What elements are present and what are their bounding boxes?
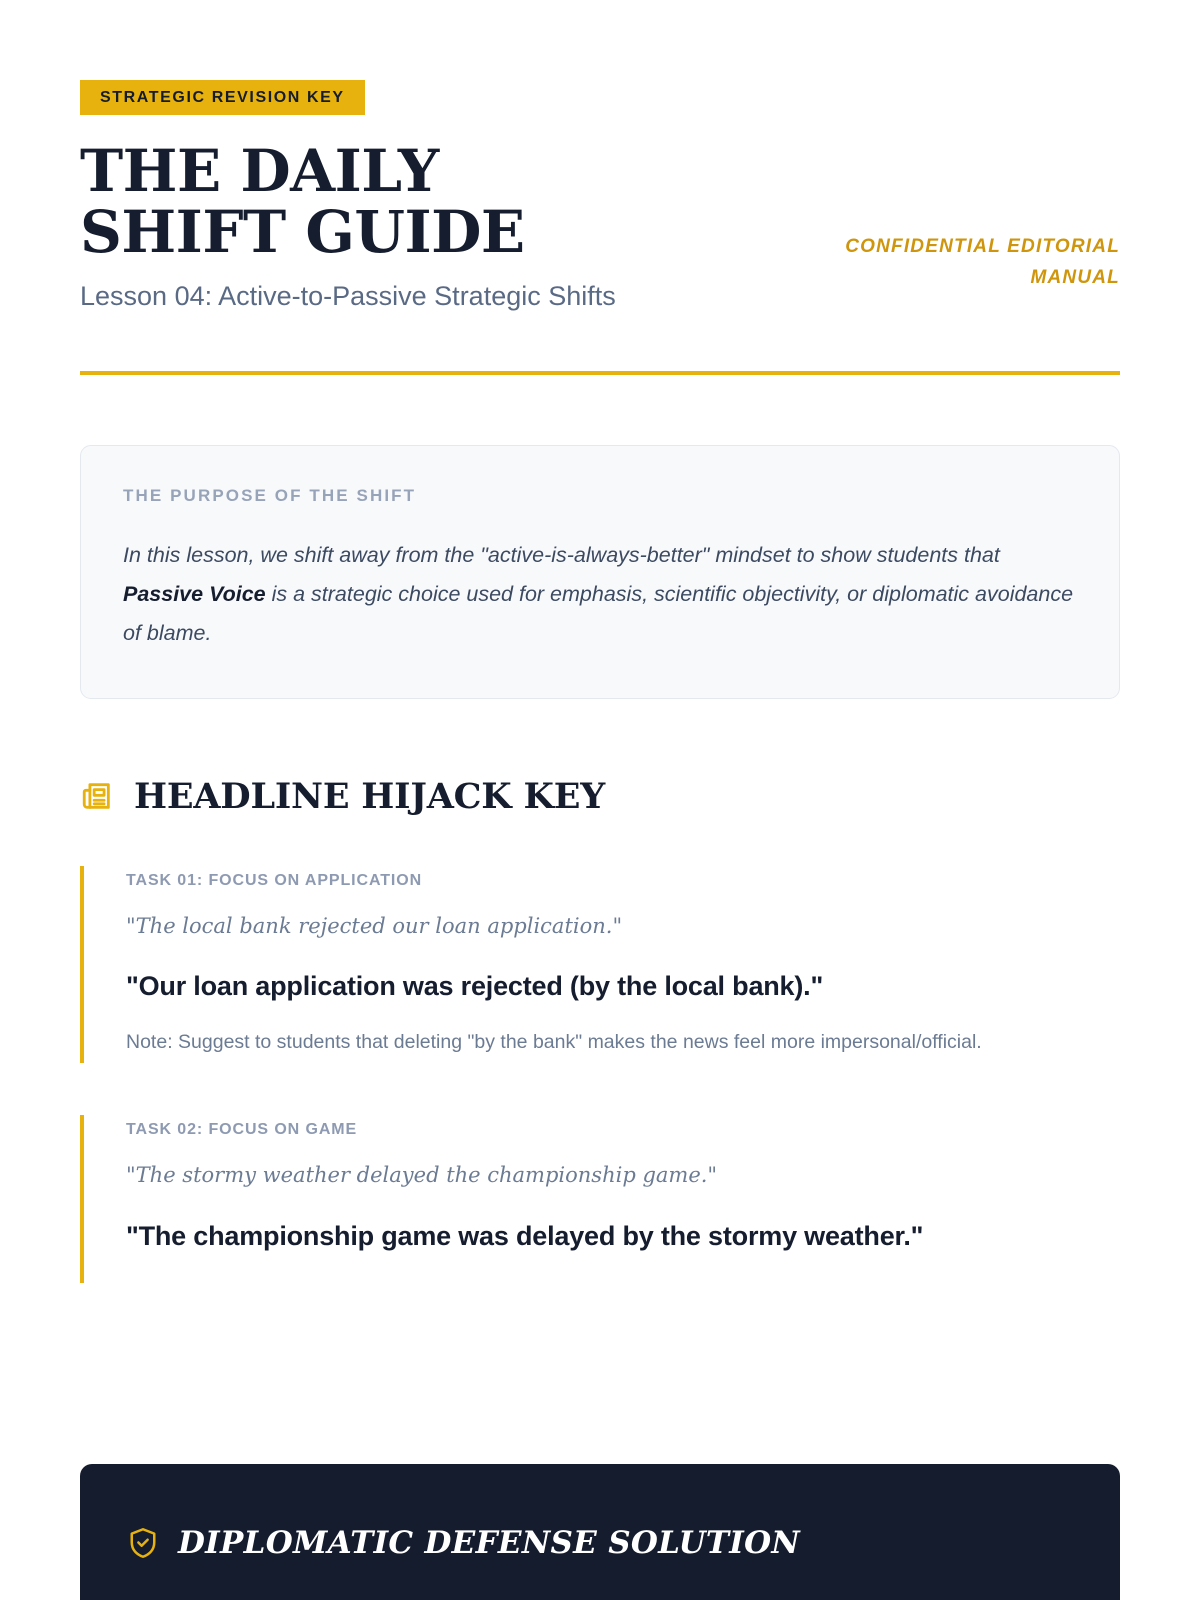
task-original-sentence: "The local bank rejected our loan applic… [126, 912, 1120, 941]
status-badge: STRATEGIC REVISION KEY [80, 80, 365, 115]
task-original-sentence: "The stormy weather delayed the champion… [126, 1161, 1120, 1190]
confidential-notice: CONFIDENTIAL EDITORIAL MANUAL [760, 231, 1120, 316]
diplomatic-defense-panel: DIPLOMATIC DEFENSE SOLUTION [80, 1464, 1120, 1600]
header-divider [80, 371, 1120, 375]
purpose-text-before: In this lesson, we shift away from the "… [123, 543, 1000, 567]
page-subtitle: Lesson 04: Active-to-Passive Strategic S… [80, 278, 616, 315]
purpose-emphasis: Passive Voice [123, 582, 266, 606]
task-answer: "The championship game was delayed by th… [126, 1217, 1120, 1257]
purpose-callout: THE PURPOSE OF THE SHIFT In this lesson,… [80, 445, 1120, 698]
task-answer: "Our loan application was rejected (by t… [126, 967, 1120, 1007]
purpose-label: THE PURPOSE OF THE SHIFT [123, 486, 1077, 506]
section-title: HEADLINE HIJACK KEY [134, 779, 605, 814]
task-label: TASK 01: FOCUS ON APPLICATION [126, 872, 1120, 890]
panel-header: DIPLOMATIC DEFENSE SOLUTION [128, 1526, 1072, 1560]
page-title: THE DAILY SHIFT GUIDE [80, 141, 550, 264]
purpose-body: In this lesson, we shift away from the "… [123, 536, 1077, 653]
task-note: Note: Suggest to students that deleting … [126, 1027, 1120, 1057]
section-header: HEADLINE HIJACK KEY [80, 779, 1120, 814]
shield-check-icon [128, 1526, 158, 1560]
purpose-text-after: is a strategic choice used for emphasis,… [123, 582, 1073, 645]
panel-title: DIPLOMATIC DEFENSE SOLUTION [178, 1528, 800, 1559]
document-page: STRATEGIC REVISION KEY THE DAILY SHIFT G… [0, 0, 1200, 1283]
task-item: TASK 01: FOCUS ON APPLICATION "The local… [80, 866, 1120, 1064]
title-block: THE DAILY SHIFT GUIDE Lesson 04: Active-… [80, 141, 616, 315]
title-row: THE DAILY SHIFT GUIDE Lesson 04: Active-… [80, 141, 1120, 315]
newspaper-icon [80, 779, 114, 813]
task-item: TASK 02: FOCUS ON GAME "The stormy weath… [80, 1115, 1120, 1282]
document-header: STRATEGIC REVISION KEY THE DAILY SHIFT G… [80, 80, 1120, 375]
task-label: TASK 02: FOCUS ON GAME [126, 1121, 1120, 1139]
